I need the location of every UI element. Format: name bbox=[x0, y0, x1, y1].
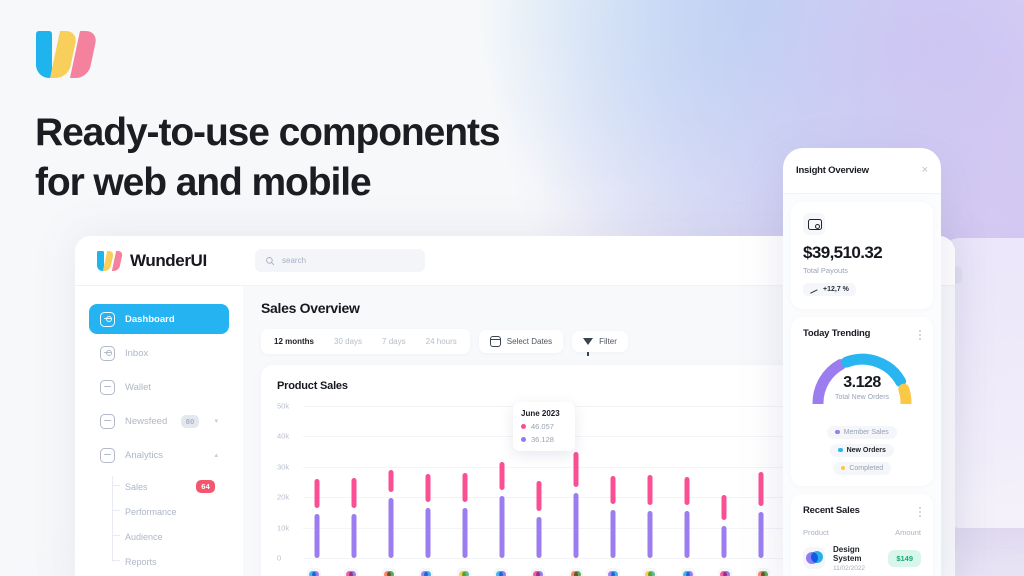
more-options-icon[interactable] bbox=[919, 505, 921, 517]
more-options-icon[interactable] bbox=[919, 328, 921, 340]
promo-canvas: Ready-to-use components for web and mobi… bbox=[0, 0, 1024, 576]
y-axis-tick-label: 30k bbox=[277, 462, 289, 471]
table-header: Product Amount bbox=[803, 528, 921, 537]
legend-new-orders[interactable]: New Orders bbox=[830, 444, 894, 457]
gauge-chart: 3.128 Total New Orders bbox=[803, 348, 921, 422]
sidebar-item-inbox[interactable]: Inbox bbox=[89, 338, 229, 368]
bar-gap bbox=[426, 502, 431, 508]
wallet-icon bbox=[803, 213, 825, 235]
bar-segment-new-orders bbox=[648, 475, 653, 505]
trend-up-icon bbox=[810, 287, 818, 293]
bar-column[interactable] bbox=[344, 406, 364, 558]
calendar-icon bbox=[490, 336, 501, 347]
product-icon bbox=[569, 568, 583, 576]
sidebar-item-sales[interactable]: Sales 64 bbox=[125, 474, 229, 499]
search-icon bbox=[265, 256, 275, 266]
chevron-up-icon[interactable]: ▴ bbox=[214, 451, 218, 459]
sidebar-item-analytics[interactable]: Analytics ▴ bbox=[89, 440, 229, 470]
sidebar-subitem-label: Sales bbox=[125, 482, 148, 492]
bar-segment-member-sales bbox=[611, 510, 616, 558]
brand-name: WunderUI bbox=[130, 251, 207, 271]
column-header-product: Product bbox=[803, 528, 829, 537]
bar-gap bbox=[352, 508, 357, 514]
table-row[interactable]: Design System 11/02/2022 $149 bbox=[803, 545, 921, 572]
bar-segment-new-orders bbox=[500, 462, 505, 491]
tab-12-months[interactable]: 12 months bbox=[264, 332, 324, 351]
bar-segment-member-sales bbox=[500, 496, 505, 558]
bar-gap bbox=[389, 492, 394, 498]
bar-segment-member-sales bbox=[722, 526, 727, 558]
bar-column[interactable] bbox=[714, 406, 734, 558]
bar-segment-member-sales bbox=[648, 511, 653, 558]
sidebar-item-label: Dashboard bbox=[125, 314, 218, 325]
search-input[interactable]: search bbox=[255, 249, 425, 272]
bar-segment-new-orders bbox=[463, 473, 468, 502]
sidebar-subitem-label: Audience bbox=[125, 532, 163, 542]
bar-segment-new-orders bbox=[426, 474, 431, 503]
payout-delta-value: +12,7 % bbox=[823, 286, 849, 293]
recent-sales-title: Recent Sales bbox=[803, 505, 860, 516]
tooltip-row: 46.057 bbox=[521, 422, 567, 431]
bar-segment-member-sales bbox=[574, 493, 579, 558]
product-icon bbox=[307, 568, 321, 576]
inbox-icon bbox=[100, 346, 115, 361]
hero-headline: Ready-to-use components for web and mobi… bbox=[35, 108, 655, 207]
trending-title: Today Trending bbox=[803, 328, 870, 339]
bar-gap bbox=[315, 508, 320, 514]
sidebar-item-label: Newsfeed bbox=[125, 416, 171, 427]
select-dates-button[interactable]: Select Dates bbox=[479, 330, 563, 353]
wunderui-logo-icon bbox=[36, 31, 94, 78]
y-axis-tick-label: 0 bbox=[277, 554, 281, 563]
card-header: Today Trending bbox=[803, 328, 921, 340]
product-icon bbox=[382, 568, 396, 576]
bar-segment-new-orders bbox=[315, 479, 320, 508]
sidebar-item-label: Analytics bbox=[125, 450, 199, 461]
tab-7-days[interactable]: 7 days bbox=[372, 332, 416, 351]
bar-segment-member-sales bbox=[352, 514, 357, 558]
filter-icon bbox=[583, 338, 593, 345]
headline-line-2: for web and mobile bbox=[35, 158, 655, 208]
sidebar-item-audience[interactable]: Audience bbox=[125, 524, 229, 549]
bar-segment-member-sales bbox=[389, 498, 394, 558]
bar-gap bbox=[463, 502, 468, 508]
chart-tooltip: June 2023 46.057 36.128 bbox=[513, 402, 575, 451]
brand-logo[interactable]: WunderUI bbox=[75, 251, 243, 271]
payout-delta-badge: +12,7 % bbox=[803, 283, 856, 296]
select-dates-label: Select Dates bbox=[507, 337, 552, 346]
product-icon bbox=[457, 568, 471, 576]
today-trending-card: Today Trending 3.128 Total New Orders bbox=[791, 317, 933, 486]
legend-dot-purple bbox=[835, 430, 840, 435]
product-icon bbox=[531, 568, 545, 576]
tab-24-hours[interactable]: 24 hours bbox=[416, 332, 467, 351]
product-icon bbox=[718, 568, 732, 576]
bar-column[interactable] bbox=[307, 406, 327, 558]
y-axis-tick-label: 20k bbox=[277, 493, 289, 502]
mobile-header: Insight Overview × bbox=[783, 148, 941, 194]
legend-label: Completed bbox=[849, 465, 883, 472]
bar-segment-member-sales bbox=[685, 511, 690, 558]
close-icon[interactable]: × bbox=[922, 165, 928, 176]
bar-segment-member-sales bbox=[426, 508, 431, 558]
bar-segment-new-orders bbox=[759, 472, 764, 505]
sidebar-item-label: Wallet bbox=[125, 382, 218, 393]
sidebar-item-reports[interactable]: Reports bbox=[125, 549, 229, 574]
y-axis-tick-label: 40k bbox=[277, 432, 289, 441]
product-icon bbox=[756, 568, 770, 576]
bar-segment-new-orders bbox=[352, 478, 357, 508]
sidebar-subitem-label: Reports bbox=[125, 557, 157, 567]
bar-segment-member-sales bbox=[759, 512, 764, 559]
legend-member-sales[interactable]: Member Sales bbox=[827, 426, 897, 439]
bar-gap bbox=[574, 487, 579, 493]
bar-segment-member-sales bbox=[463, 508, 468, 558]
product-thumbnail-icon bbox=[803, 547, 825, 569]
bar-segment-new-orders bbox=[574, 452, 579, 487]
bar-column[interactable] bbox=[677, 406, 697, 558]
bar-column[interactable] bbox=[640, 406, 660, 558]
sidebar-badge-sales: 64 bbox=[196, 480, 215, 493]
legend-completed[interactable]: Completed bbox=[833, 462, 891, 475]
dashboard-icon bbox=[100, 312, 115, 327]
payout-label: Total Payouts bbox=[803, 266, 921, 275]
brand-mark-icon bbox=[97, 251, 121, 271]
bar-gap bbox=[537, 511, 542, 517]
sidebar-subnav-analytics: Sales 64 Performance Audience Reports bbox=[112, 474, 229, 574]
product-name: Design System bbox=[833, 545, 880, 563]
tooltip-row: 36.128 bbox=[521, 435, 567, 444]
legend-label: New Orders bbox=[847, 447, 886, 454]
range-segmented-control: 12 months 30 days 7 days 24 hours bbox=[261, 329, 470, 354]
sidebar: Dashboard Inbox Wallet Newsfeed 80 ▾ bbox=[75, 286, 243, 576]
product-icon bbox=[419, 568, 433, 576]
tooltip-value: 46.057 bbox=[531, 422, 554, 431]
bar-segment-new-orders bbox=[611, 476, 616, 504]
product-icon bbox=[643, 568, 657, 576]
product-icon bbox=[681, 568, 695, 576]
sidebar-item-newsfeed[interactable]: Newsfeed 80 ▾ bbox=[89, 406, 229, 436]
tooltip-title: June 2023 bbox=[521, 409, 567, 418]
mobile-body: $39,510.32 Total Payouts +12,7 % Today T… bbox=[783, 194, 941, 576]
sidebar-item-label: Inbox bbox=[125, 348, 218, 359]
sidebar-item-dashboard[interactable]: Dashboard bbox=[89, 304, 229, 334]
headline-line-1: Ready-to-use components bbox=[35, 108, 655, 158]
y-axis-tick-label: 10k bbox=[277, 523, 289, 532]
sidebar-item-wallet[interactable]: Wallet bbox=[89, 372, 229, 402]
filter-button[interactable]: Filter bbox=[572, 331, 628, 352]
bar-column[interactable] bbox=[492, 406, 512, 558]
tooltip-value: 36.128 bbox=[531, 435, 554, 444]
y-axis-tick-label: 50k bbox=[277, 402, 289, 411]
bar-column[interactable] bbox=[455, 406, 475, 558]
bar-gap bbox=[500, 490, 505, 496]
mobile-panel-title: Insight Overview bbox=[796, 165, 869, 176]
bar-gap bbox=[648, 505, 653, 511]
product-icon bbox=[344, 568, 358, 576]
wallet-icon bbox=[100, 380, 115, 395]
search-placeholder: search bbox=[282, 256, 306, 265]
mobile-insight-panel: Insight Overview × $39,510.32 Total Payo… bbox=[783, 148, 941, 576]
bar-column[interactable] bbox=[418, 406, 438, 558]
bar-column[interactable] bbox=[751, 406, 771, 558]
total-payouts-card: $39,510.32 Total Payouts +12,7 % bbox=[791, 202, 933, 309]
bar-column[interactable] bbox=[381, 406, 401, 558]
bar-column[interactable] bbox=[603, 406, 623, 558]
bar-segment-new-orders bbox=[722, 495, 727, 520]
filter-label: Filter bbox=[599, 337, 617, 346]
product-icon bbox=[606, 568, 620, 576]
gauge-legend: Member Sales New Orders Completed bbox=[803, 426, 921, 475]
analytics-icon bbox=[100, 448, 115, 463]
tooltip-dot-purple bbox=[521, 437, 526, 442]
legend-label: Member Sales bbox=[844, 429, 889, 436]
payout-amount: $39,510.32 bbox=[803, 243, 921, 263]
product-icon bbox=[494, 568, 508, 576]
legend-dot-yellow bbox=[841, 466, 846, 471]
column-header-amount: Amount bbox=[895, 528, 921, 537]
card-header: Recent Sales bbox=[803, 505, 921, 517]
gauge-value: 3.128 bbox=[803, 374, 921, 392]
recent-sales-card: Recent Sales Product Amount Design Syste… bbox=[791, 494, 933, 576]
gauge-sublabel: Total New Orders bbox=[803, 394, 921, 401]
logo-shape-blue bbox=[36, 31, 52, 78]
tab-30-days[interactable]: 30 days bbox=[324, 332, 372, 351]
newsfeed-icon bbox=[100, 414, 115, 429]
sidebar-item-performance[interactable]: Performance bbox=[125, 499, 229, 524]
legend-dot-blue bbox=[838, 448, 843, 453]
bar-segment-member-sales bbox=[315, 514, 320, 558]
chevron-down-icon[interactable]: ▾ bbox=[214, 417, 218, 425]
bar-segment-new-orders bbox=[537, 481, 542, 511]
bar-segment-member-sales bbox=[537, 517, 542, 558]
sidebar-subitem-label: Performance bbox=[125, 507, 177, 517]
product-date: 11/02/2022 bbox=[833, 565, 880, 572]
tooltip-dot-pink bbox=[521, 424, 526, 429]
amount-badge: $149 bbox=[888, 550, 921, 567]
sidebar-badge-newsfeed: 80 bbox=[181, 415, 200, 428]
bar-segment-new-orders bbox=[389, 470, 394, 492]
bar-segment-new-orders bbox=[685, 477, 690, 505]
